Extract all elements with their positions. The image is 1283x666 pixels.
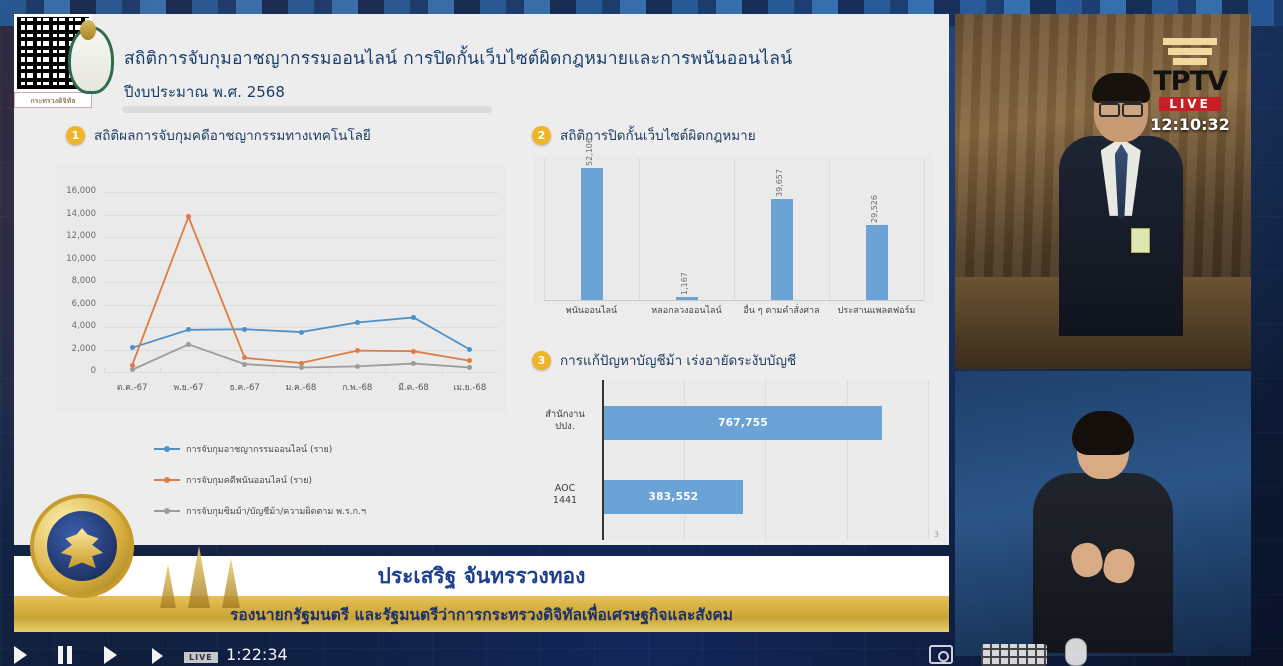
legend-swatch <box>154 510 180 512</box>
data-point <box>355 364 360 369</box>
mouse-icon[interactable] <box>1065 638 1087 666</box>
title-divider <box>122 106 492 113</box>
video-sign-language-interpreter <box>955 371 1251 656</box>
data-point <box>130 367 135 372</box>
bar-category-label: ประสานแพลตฟอร์ม <box>829 306 924 317</box>
gridline <box>765 380 766 540</box>
data-point <box>355 348 360 353</box>
gridline <box>928 380 929 540</box>
bar <box>771 199 793 300</box>
presentation-slide: กระทรวงดิจิทัล สถิติการจับกุมอาชญากรรมออ… <box>14 14 949 545</box>
section-3-title: การแก้ปัญหาบัญชีม้า เร่งอายัดระงับบัญชี <box>560 349 796 371</box>
section-1-heading: 1 สถิติผลการจับกุมคดีอาชญากรรมทางเทคโนโล… <box>66 124 371 146</box>
bar-value-label: 29,526 <box>870 185 879 223</box>
legend-label: การจับกุมคดีพนันออนไลน์ (ราย) <box>186 473 312 487</box>
section-2-heading: 2 สถิติการปิดกั้นเว็บไซต์ผิดกฎหมาย <box>532 124 756 146</box>
video-main-speaker: TPTV LIVE 12:10:32 <box>955 14 1251 369</box>
bar <box>676 297 698 300</box>
line-chart: 02,0004,0006,0008,00010,00012,00014,0001… <box>56 164 506 414</box>
slide-page-number: 3 <box>934 530 939 539</box>
legend-swatch <box>154 479 180 481</box>
bar-value-label: 52,106 <box>585 128 594 166</box>
camera-icon[interactable] <box>929 645 953 664</box>
y-axis-line <box>602 380 604 540</box>
player-time: 1:22:34 <box>226 645 288 664</box>
section-3-badge: 3 <box>532 351 551 370</box>
legend-swatch <box>154 448 180 450</box>
bar-value-label: 39,657 <box>775 159 784 197</box>
data-point <box>299 330 304 335</box>
data-point <box>242 327 247 332</box>
keyboard-icon[interactable] <box>981 644 1047 666</box>
category-line: สำนักงาน <box>532 409 598 421</box>
speaker-name: ประเสริฐ จันทรรวงทอง <box>378 560 586 593</box>
bar: 383,552 <box>604 480 743 514</box>
legend-label: การจับกุมซิมม้า/บัญชีม้า/ความผิดตาม พ.ร.… <box>186 504 366 518</box>
speaker-position: รองนายกรัฐมนตรี และรัฐมนตรีว่าการกระทรวง… <box>230 602 733 627</box>
interpreter-hair <box>1072 411 1134 455</box>
government-seal-icon <box>14 494 142 602</box>
line-series-paths <box>56 164 506 414</box>
bar-category-label: AOC1441 <box>532 483 598 507</box>
slide-title-line1: สถิติการจับกุมอาชญากรรมออนไลน์ การปิดกั้… <box>124 44 792 72</box>
bar <box>866 225 888 300</box>
blocked-websites-bar-chart: 52,1061,16739,65729,526 <box>534 154 934 304</box>
gridline <box>734 158 735 300</box>
live-badge: LIVE <box>1159 97 1221 111</box>
bar-value-label: 383,552 <box>648 491 698 503</box>
section-3-heading: 3 การแก้ปัญหาบัญชีม้า เร่งอายัดระงับบัญช… <box>532 349 796 371</box>
seal-circle <box>30 494 134 598</box>
category-line: 1441 <box>532 495 598 507</box>
data-point <box>130 345 135 350</box>
gridline <box>829 158 830 300</box>
section-1-title: สถิติผลการจับกุมคดีอาชญากรรมทางเทคโนโลยี <box>94 124 371 146</box>
channel-logo: TPTV LIVE 12:10:32 <box>1145 38 1235 134</box>
category-line: AOC <box>532 483 598 495</box>
player-live-badge[interactable]: LIVE <box>184 645 218 664</box>
slide-header: กระทรวงดิจิทัล สถิติการจับกุมอาชญากรรมออ… <box>14 14 949 96</box>
play-button[interactable] <box>14 645 27 665</box>
bar-category-label: พนันออนไลน์ <box>544 306 639 317</box>
bar-value-label: 1,167 <box>680 257 689 295</box>
bar-category-label: สำนักงานปปง. <box>532 409 598 433</box>
legend-label: การจับกุมอาชญากรรมออนไลน์ (ราย) <box>186 442 332 456</box>
pause-button[interactable] <box>58 645 72 665</box>
gridline <box>684 380 685 540</box>
line-chart-legend: การจับกุมอาชญากรรมออนไลน์ (ราย)การจับกุม… <box>154 442 366 535</box>
data-point <box>411 349 416 354</box>
interpreter-jacket <box>1033 473 1173 653</box>
speaker-id-badge <box>1131 228 1150 253</box>
legend-item: การจับกุมอาชญากรรมออนไลน์ (ราย) <box>154 442 366 456</box>
data-point <box>299 365 304 370</box>
interpreter-figure <box>1028 417 1178 656</box>
temple-graphic <box>150 536 270 608</box>
data-point <box>242 362 247 367</box>
bar-category-label: อื่น ๆ ตามคำสั่งศาล <box>734 306 829 317</box>
section-1-badge: 1 <box>66 126 85 145</box>
category-line: ปปง. <box>532 421 598 433</box>
legend-item: การจับกุมคดีพนันออนไลน์ (ราย) <box>154 473 366 487</box>
bar <box>581 168 603 300</box>
data-point <box>186 342 191 347</box>
data-point <box>355 320 360 325</box>
broadcast-clock: 12:10:32 <box>1145 115 1235 134</box>
x-axis-line <box>544 300 924 301</box>
tptv-bars-icon <box>1145 38 1235 65</box>
glasses-icon <box>1099 101 1143 114</box>
data-point <box>411 315 416 320</box>
section-2-badge: 2 <box>532 126 551 145</box>
stop-button[interactable] <box>104 645 117 665</box>
tptv-wordmark: TPTV <box>1145 68 1235 95</box>
bar: 767,755 <box>604 406 882 440</box>
next-button[interactable] <box>152 645 163 664</box>
bar-value-label: 767,755 <box>718 417 768 429</box>
gridline <box>544 158 545 300</box>
gridline <box>924 158 925 300</box>
speaker-hair <box>1092 73 1150 103</box>
screen: กระทรวงดิจิทัล สถิติการจับกุมอาชญากรรมออ… <box>0 0 1283 666</box>
government-emblem-icon <box>60 18 116 102</box>
slide-title-line2: ปีงบประมาณ พ.ศ. 2568 <box>124 80 285 104</box>
legend-item: การจับกุมซิมม้า/บัญชีม้า/ความผิดตาม พ.ร.… <box>154 504 366 518</box>
gridline <box>639 158 640 300</box>
player-live-label: LIVE <box>184 652 218 663</box>
mule-account-bar-chart: 767,755383,552 <box>602 380 928 540</box>
video-player-controls[interactable]: LIVE 1:22:34 <box>0 642 1283 666</box>
bar-category-label: หลอกลวงออนไลน์ <box>639 306 734 317</box>
gridline <box>847 380 848 540</box>
